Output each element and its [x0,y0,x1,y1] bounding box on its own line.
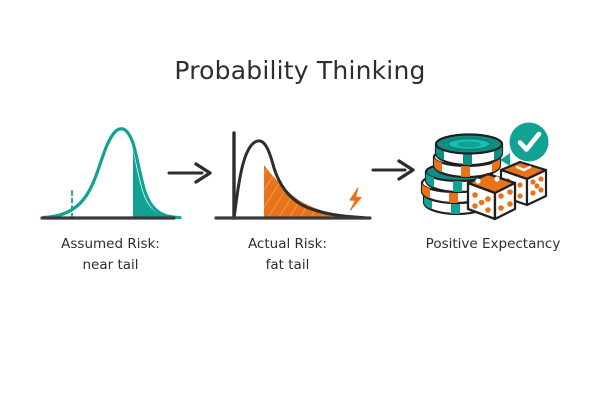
assumed-risk-chart [40,120,180,225]
caption-chips-line1: Positive Expectancy [426,236,561,252]
caption-assumed-line2: near tail [28,255,193,276]
check-badge [500,123,549,167]
check-badge-circle [510,123,549,162]
lightning-bolt-icon [350,188,361,210]
panel-positive-expectancy [418,120,563,225]
infographic-canvas: Probability Thinking [0,0,600,400]
arrow-actual-to-expectancy [372,154,420,186]
page-title: Probability Thinking [0,56,600,85]
panel-actual-risk [212,120,377,225]
caption-positive-expectancy: Positive Expectancy [398,234,588,255]
arrow-right-icon [372,154,420,186]
die-front [468,174,515,219]
poker-chip-stack-upper [434,135,502,178]
chips-and-dice-illustration [418,120,563,225]
caption-actual-line1: Actual Risk: [248,236,327,252]
caption-assumed-line1: Assumed Risk: [61,236,160,252]
arrow-assumed-to-actual [168,158,216,188]
caption-assumed-risk: Assumed Risk: near tail [28,234,193,276]
caption-actual-line2: fat tail [200,255,375,276]
panel-assumed-risk [40,120,180,225]
actual-risk-chart [212,120,377,225]
caption-actual-risk: Actual Risk: fat tail [200,234,375,276]
arrow-right-icon [168,158,216,188]
